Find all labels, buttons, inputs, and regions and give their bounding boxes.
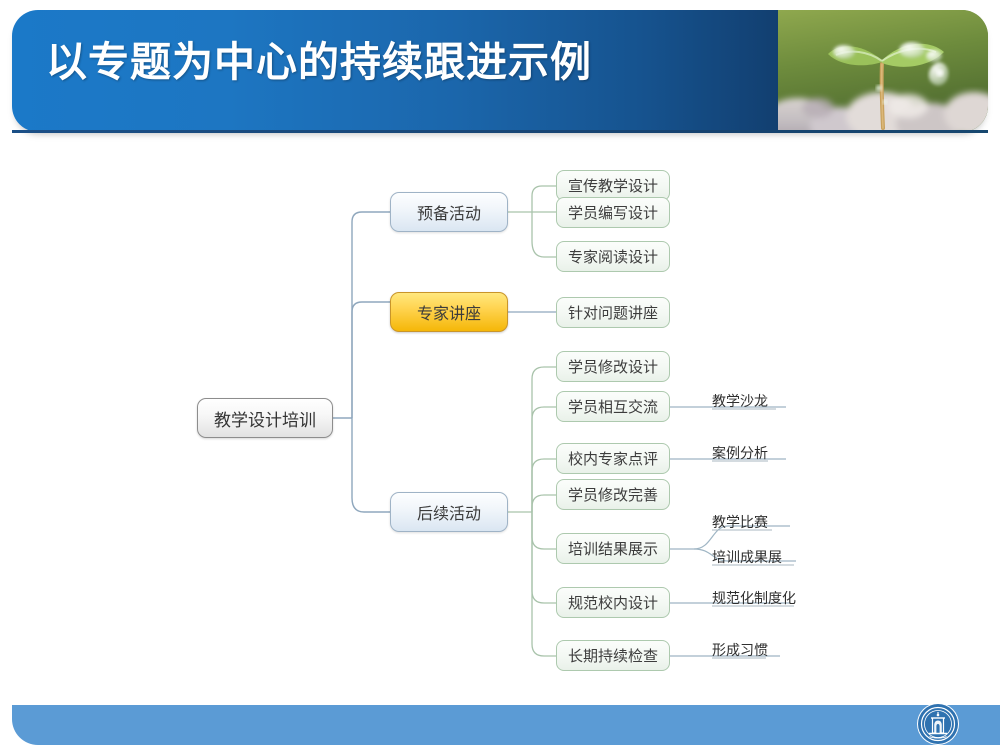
mindmap-annotation-label: 规范化制度化 <box>712 588 796 610</box>
mindmap-diagram: 教学设计培训 预备活动 宣传教学设计 学员编写设计 专家阅读设计 专家讲座 针对… <box>0 140 1000 700</box>
mindmap-branch-label: 后续活动 <box>417 500 481 524</box>
mindmap-leaf-label: 学员编写设计 <box>568 202 658 223</box>
mindmap-annotation-label: 形成习惯 <box>712 640 768 662</box>
mindmap-branch-label: 预备活动 <box>417 200 481 224</box>
mindmap-leaf-label: 学员修改完善 <box>568 484 658 505</box>
mindmap-leaf-label: 宣传教学设计 <box>568 175 658 196</box>
mindmap-leaf-label: 培训结果展示 <box>568 538 658 559</box>
mindmap-annotation-label: 教学沙龙 <box>712 391 768 413</box>
slide-header-banner: 以专题为中心的持续跟进示例 <box>12 10 988 132</box>
mindmap-leaf-label: 规范校内设计 <box>568 592 658 613</box>
mindmap-annotation-label: 培训成果展 <box>712 547 782 569</box>
mindmap-branch-preparatory[interactable]: 预备活动 <box>390 192 508 232</box>
mindmap-leaf-node[interactable]: 学员修改完善 <box>556 479 670 510</box>
header-bottom-rule <box>12 130 988 133</box>
mindmap-leaf-node[interactable]: 校内专家点评 <box>556 443 670 474</box>
mindmap-leaf-node[interactable]: 学员编写设计 <box>556 197 670 228</box>
mindmap-leaf-node[interactable]: 针对问题讲座 <box>556 297 670 328</box>
slide-canvas: 以专题为中心的持续跟进示例 <box>0 0 1000 750</box>
university-emblem-logo <box>916 702 960 746</box>
mindmap-leaf-node[interactable]: 学员相互交流 <box>556 391 670 422</box>
mindmap-leaf-label: 学员相互交流 <box>568 396 658 417</box>
mindmap-leaf-node[interactable]: 规范校内设计 <box>556 587 670 618</box>
mindmap-branch-label: 专家讲座 <box>417 300 481 324</box>
mindmap-annotation-label: 案例分析 <box>712 443 768 465</box>
mindmap-leaf-node[interactable]: 学员修改设计 <box>556 351 670 382</box>
slide-footer-band <box>12 705 1000 745</box>
mindmap-branch-expert-lecture[interactable]: 专家讲座 <box>390 292 508 332</box>
mindmap-leaf-node[interactable]: 专家阅读设计 <box>556 241 670 272</box>
mindmap-leaf-label: 校内专家点评 <box>568 448 658 469</box>
mindmap-root-node[interactable]: 教学设计培训 <box>197 398 333 438</box>
mindmap-leaf-label: 针对问题讲座 <box>568 302 658 323</box>
mindmap-leaf-label: 专家阅读设计 <box>568 246 658 267</box>
mindmap-leaf-node[interactable]: 长期持续检查 <box>556 640 670 671</box>
page-title: 以专题为中心的持续跟进示例 <box>46 37 592 88</box>
mindmap-leaf-label: 长期持续检查 <box>568 645 658 666</box>
mindmap-leaf-label: 学员修改设计 <box>568 356 658 377</box>
mindmap-branch-followup[interactable]: 后续活动 <box>390 492 508 532</box>
header-photo <box>778 10 988 132</box>
mindmap-annotation-label: 教学比赛 <box>712 512 768 534</box>
mindmap-leaf-node[interactable]: 培训结果展示 <box>556 533 670 564</box>
mindmap-root-label: 教学设计培训 <box>214 406 316 431</box>
